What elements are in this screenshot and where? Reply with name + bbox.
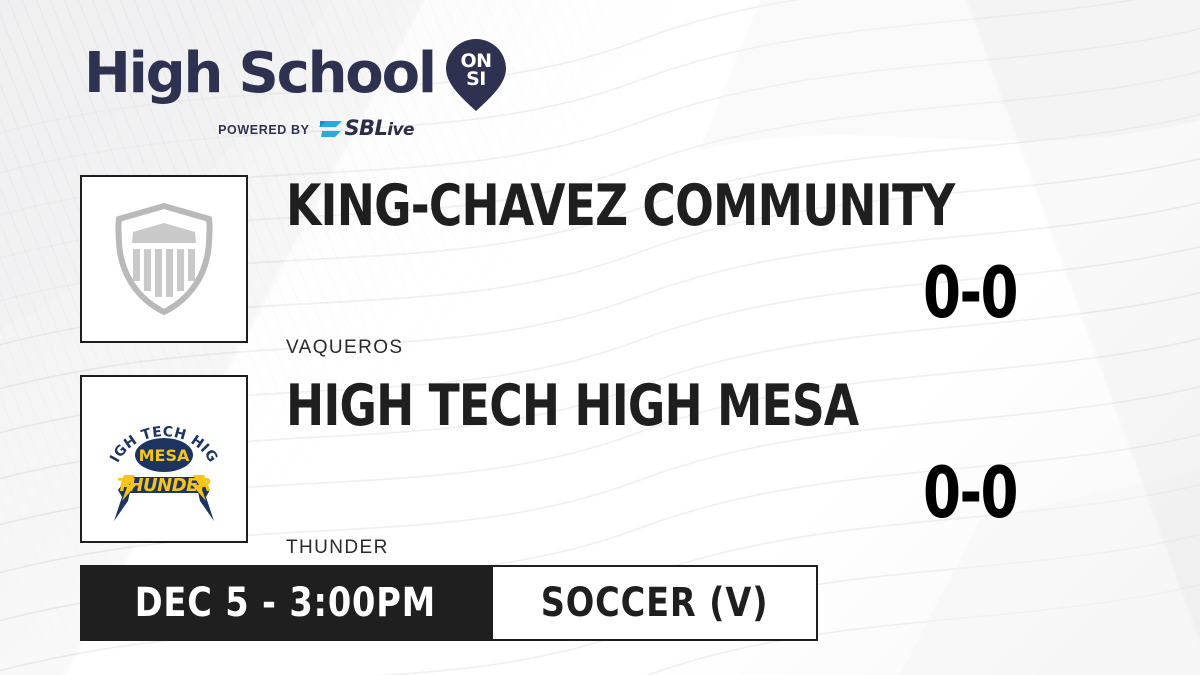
high-tech-high-mesa-thunder-logo: HIGH TECH HIGH MESA THUNDER xyxy=(102,397,226,521)
brand-title: High School xyxy=(84,45,435,103)
game-scorecard: High School ON SI POWERED BY SBLive xyxy=(0,0,1200,675)
brand-title-row: High School ON SI xyxy=(84,36,514,112)
game-sport-block: SOCCER (V) xyxy=(491,565,818,641)
away-team-mascot: VAQUEROS xyxy=(286,337,403,359)
sblive-s-mark-icon xyxy=(317,119,343,141)
home-team-mascot: THUNDER xyxy=(286,537,389,559)
sblive-logo: SBLive xyxy=(317,118,414,141)
powered-by-label: POWERED BY xyxy=(218,123,309,137)
generic-shield-placeholder-icon xyxy=(114,203,214,315)
game-datetime-block: DEC 5 - 3:00PM xyxy=(80,565,491,641)
brand-header: High School ON SI POWERED BY SBLive xyxy=(84,36,514,141)
powered-by-row: POWERED BY SBLive xyxy=(84,118,514,141)
on-si-pin-icon: ON SI xyxy=(445,38,507,112)
game-info-bar: DEC 5 - 3:00PM SOCCER (V) xyxy=(80,565,818,641)
sblive-wordmark: SBLive xyxy=(345,118,414,141)
svg-text:MESA: MESA xyxy=(139,446,190,465)
home-team-score: 0-0 xyxy=(896,458,1044,528)
away-team-name: KING-CHAVEZ COMMUNITY xyxy=(286,176,955,236)
game-sport-text: SOCCER (V) xyxy=(540,582,768,624)
home-team-logo-box[interactable]: HIGH TECH HIGH MESA THUNDER xyxy=(80,375,248,543)
away-team-logo-box[interactable] xyxy=(80,175,248,343)
home-team-name: HIGH TECH HIGH MESA xyxy=(286,376,858,436)
away-team-score: 0-0 xyxy=(896,258,1044,328)
game-datetime-text: DEC 5 - 3:00PM xyxy=(135,582,436,624)
svg-text:SI: SI xyxy=(466,68,486,90)
